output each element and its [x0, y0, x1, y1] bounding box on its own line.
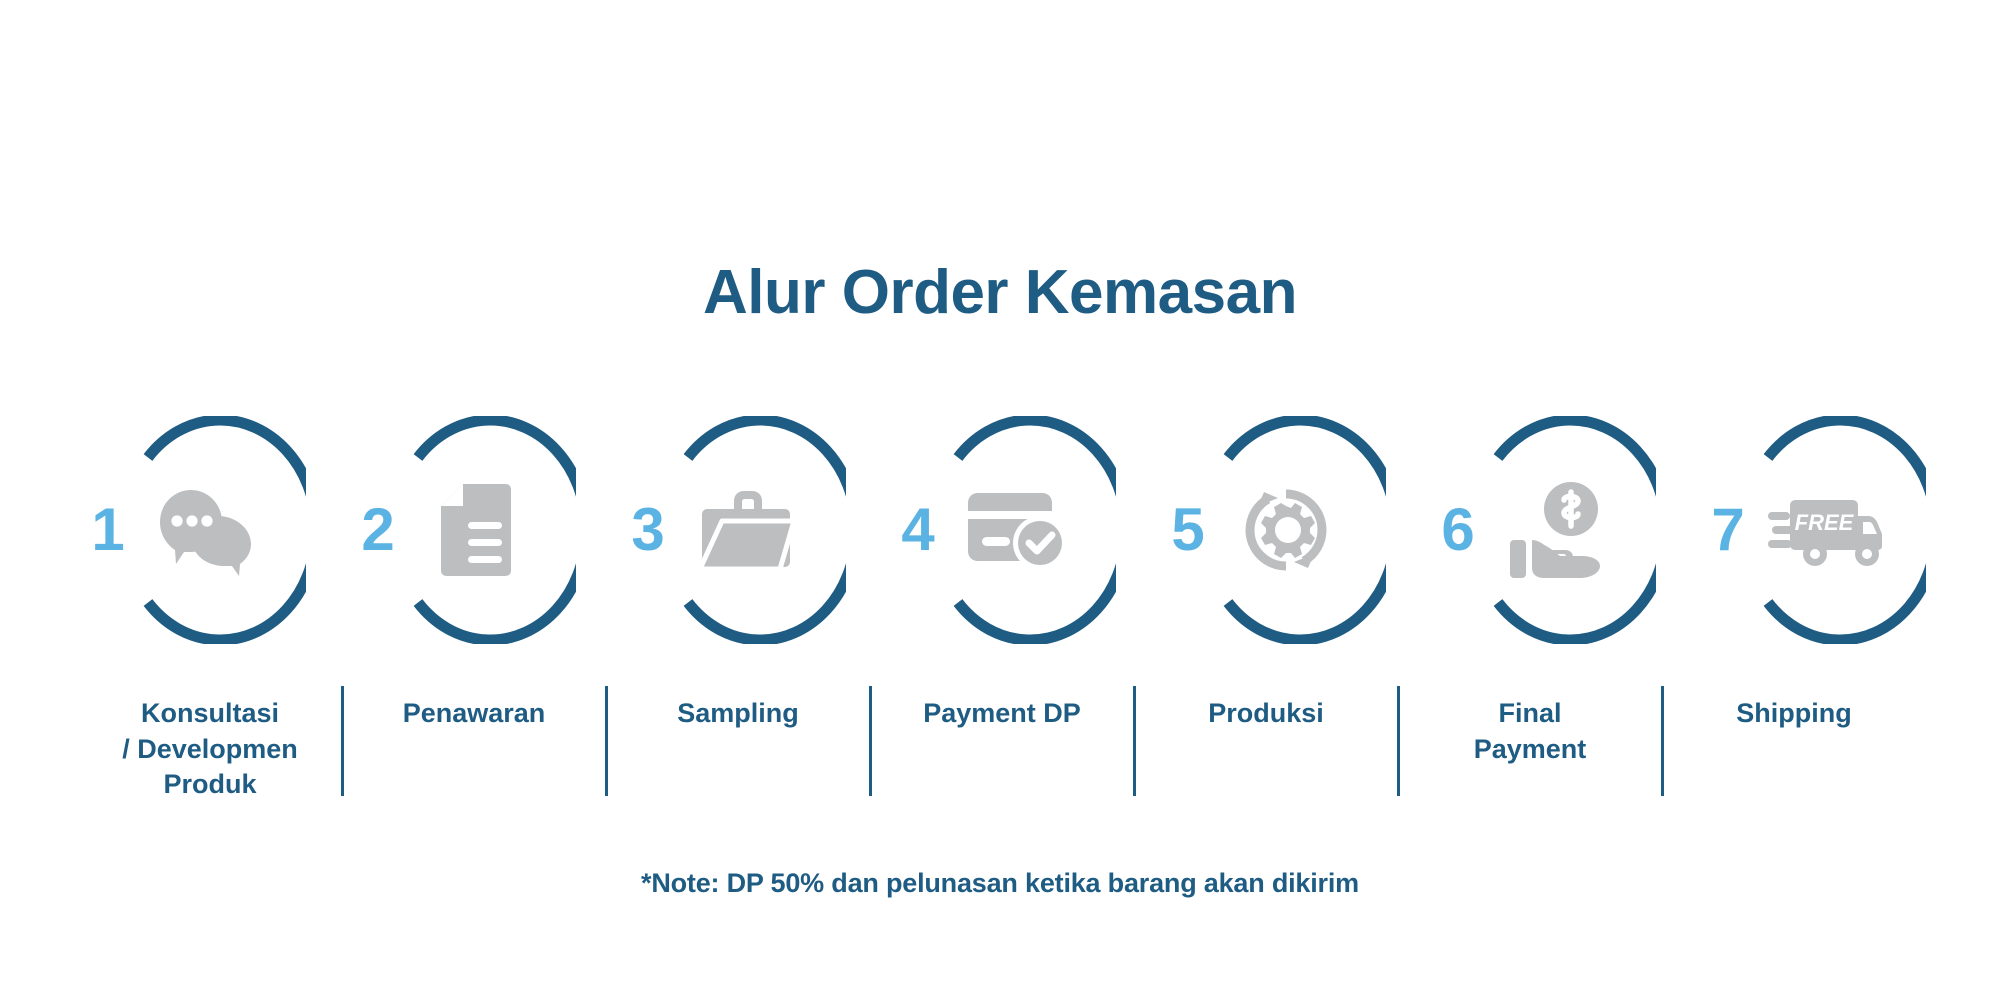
- step-item-2: 2: [348, 416, 576, 644]
- step-item-6: 6: [1428, 416, 1656, 644]
- step-label-line: Shipping: [1662, 696, 1926, 732]
- step-number-4: 4: [888, 500, 948, 560]
- step-label-line: Final: [1398, 696, 1662, 732]
- document-icon: [416, 475, 536, 585]
- gear-process-icon: [1226, 475, 1346, 585]
- label-divider: [605, 686, 608, 796]
- step-label-line: Penawaran: [342, 696, 606, 732]
- step-number-1: 1: [78, 500, 138, 560]
- step-number-2: 2: [348, 500, 408, 560]
- step-item-1: 1: [78, 416, 306, 644]
- label-divider: [1397, 686, 1400, 796]
- step-label-line: Payment DP: [870, 696, 1134, 732]
- step-item-7: 7 FREE: [1698, 416, 1926, 644]
- footnote: *Note: DP 50% dan pelunasan ketika baran…: [0, 868, 2000, 899]
- chat-bubbles-icon: [146, 475, 266, 585]
- label-divider: [869, 686, 872, 796]
- step-item-5: 5: [1158, 416, 1386, 644]
- step-number-3: 3: [618, 500, 678, 560]
- step-number-6: 6: [1428, 500, 1488, 560]
- step-label-7: Shipping: [1662, 690, 1926, 732]
- infographic-page: Alur Order Kemasan 1: [0, 0, 2000, 1000]
- step-label-line: Konsultasi: [78, 696, 342, 732]
- step-label-line: Payment: [1398, 732, 1662, 768]
- step-label-6: Final Payment: [1398, 690, 1662, 767]
- step-number-7: 7: [1698, 500, 1758, 560]
- page-title: Alur Order Kemasan: [0, 262, 2000, 324]
- label-divider: [1661, 686, 1664, 796]
- step-item-4: 4: [888, 416, 1116, 644]
- label-divider: [1133, 686, 1136, 796]
- step-circles-row: 1 2: [78, 415, 1926, 645]
- step-label-line: / Developmen: [78, 732, 342, 768]
- briefcase-icon: [686, 475, 806, 585]
- label-divider: [341, 686, 344, 796]
- step-label-line: Produksi: [1134, 696, 1398, 732]
- step-label-3: Sampling: [606, 690, 870, 732]
- step-number-5: 5: [1158, 500, 1218, 560]
- credit-card-check-icon: [956, 475, 1076, 585]
- step-label-1: Konsultasi / Developmen Produk: [78, 690, 342, 803]
- step-label-4: Payment DP: [870, 690, 1134, 732]
- step-label-2: Penawaran: [342, 690, 606, 732]
- step-item-3: 3: [618, 416, 846, 644]
- hand-coin-icon: [1496, 475, 1616, 585]
- step-label-line: Sampling: [606, 696, 870, 732]
- step-labels-row: Konsultasi / Developmen Produk Penawaran…: [78, 690, 1926, 810]
- step-label-line: Produk: [78, 767, 342, 803]
- truck-free-text: FREE: [1795, 510, 1855, 535]
- step-label-5: Produksi: [1134, 690, 1398, 732]
- delivery-truck-free-icon: FREE: [1766, 475, 1886, 585]
